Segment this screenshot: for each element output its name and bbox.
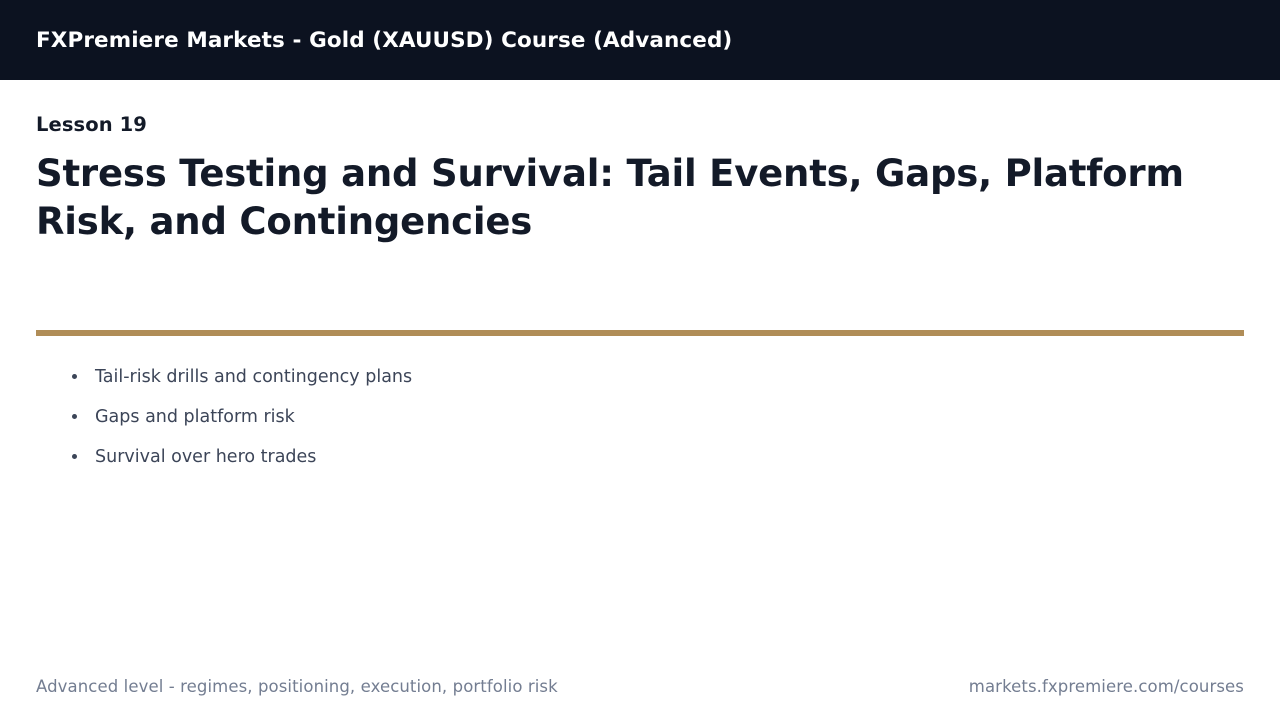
lesson-number: Lesson 19	[36, 113, 1244, 136]
presentation-slide: FXPremiere Markets - Gold (XAUUSD) Cours…	[0, 0, 1280, 720]
bullet-dot-icon	[72, 414, 77, 419]
accent-divider	[36, 330, 1244, 336]
page-title: Stress Testing and Survival: Tail Events…	[36, 150, 1244, 246]
list-item: Tail-risk drills and contingency plans	[36, 357, 1196, 397]
bullet-list: Tail-risk drills and contingency plans G…	[36, 357, 1196, 477]
list-item-label: Gaps and platform risk	[95, 407, 295, 427]
header-bar: FXPremiere Markets - Gold (XAUUSD) Cours…	[0, 0, 1280, 80]
slide-footer: Advanced level - regimes, positioning, e…	[36, 673, 1244, 699]
footer-website-url: markets.fxpremiere.com/courses	[969, 677, 1244, 696]
list-item: Survival over hero trades	[36, 437, 1196, 477]
list-item-label: Survival over hero trades	[95, 447, 316, 467]
list-item: Gaps and platform risk	[36, 397, 1196, 437]
footer-level-description: Advanced level - regimes, positioning, e…	[36, 677, 558, 696]
list-item-label: Tail-risk drills and contingency plans	[95, 367, 412, 387]
bullet-dot-icon	[72, 374, 77, 379]
course-title: FXPremiere Markets - Gold (XAUUSD) Cours…	[36, 28, 732, 53]
bullet-dot-icon	[72, 454, 77, 459]
slide-body: Lesson 19 Stress Testing and Survival: T…	[36, 80, 1244, 246]
